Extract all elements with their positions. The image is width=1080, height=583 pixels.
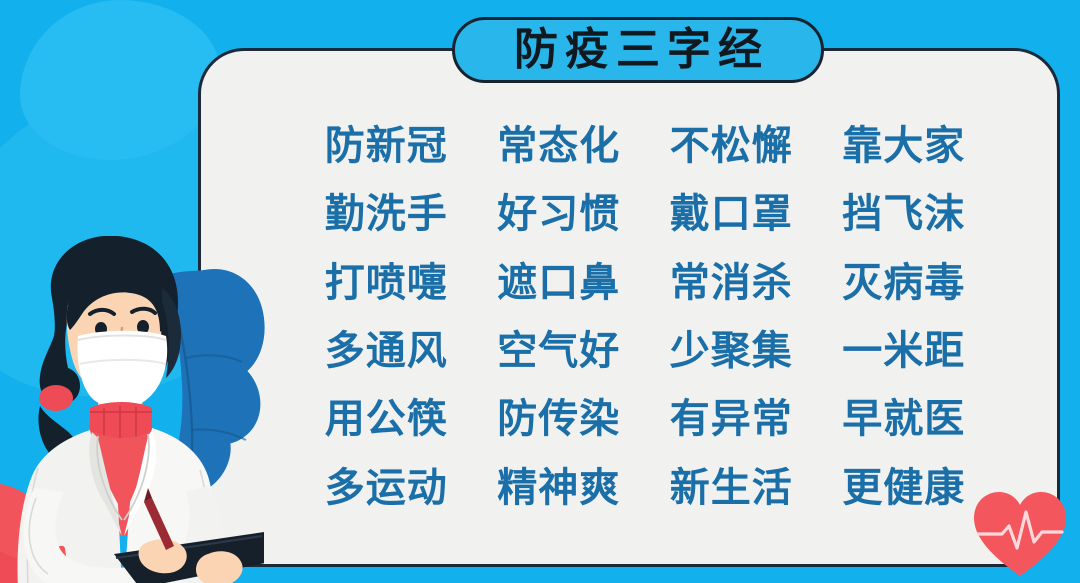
phrase-text: 勤洗手 bbox=[325, 194, 448, 234]
phrase-text: 好习惯 bbox=[497, 194, 620, 234]
phrase-cell: 精神爽 bbox=[473, 454, 646, 522]
phrase-cell: 常态化 bbox=[473, 112, 646, 180]
phrase-text: 靠大家 bbox=[842, 126, 965, 166]
phrase-cell: 少聚集 bbox=[645, 317, 818, 385]
phrase-text: 新生活 bbox=[670, 468, 793, 508]
phrase-text: 灭病毒 bbox=[842, 263, 965, 303]
phrase-cell: 靠大家 bbox=[818, 112, 991, 180]
phrase-text: 早就医 bbox=[842, 399, 965, 439]
phrase-cell: 多通风 bbox=[300, 317, 473, 385]
phrase-cell: 常消杀 bbox=[645, 249, 818, 317]
phrase-text: 多运动 bbox=[325, 468, 448, 508]
page-title: 防疫三字经 bbox=[507, 28, 769, 72]
face-mask bbox=[78, 331, 168, 409]
phrase-cell: 灭病毒 bbox=[818, 249, 991, 317]
phrase-cell: 好习惯 bbox=[473, 180, 646, 248]
phrase-grid: 防新冠 常态化 不松懈 靠大家 勤洗手 好习惯 戴口罩 挡飞沫 打喷嚏 遮口鼻 … bbox=[300, 112, 990, 522]
phrase-text: 空气好 bbox=[497, 331, 620, 371]
poster-root: 防疫三字经 防新冠 常态化 不松懈 靠大家 勤洗手 好习惯 戴口罩 挡飞沫 打喷… bbox=[0, 0, 1080, 583]
phrase-cell: 戴口罩 bbox=[645, 180, 818, 248]
phrase-text: 防新冠 bbox=[325, 126, 448, 166]
phrase-cell: 打喷嚏 bbox=[300, 249, 473, 317]
phrase-text: 常态化 bbox=[497, 126, 620, 166]
hair-tie bbox=[39, 385, 73, 411]
phrase-text: 有异常 bbox=[670, 399, 793, 439]
phrase-cell: 更健康 bbox=[818, 454, 991, 522]
phrase-text: 常消杀 bbox=[670, 263, 793, 303]
phrase-text: 遮口鼻 bbox=[497, 263, 620, 303]
phrase-cell: 空气好 bbox=[473, 317, 646, 385]
phrase-cell: 新生活 bbox=[645, 454, 818, 522]
phrase-text: 多通风 bbox=[325, 331, 448, 371]
phrase-text: 用公筷 bbox=[325, 399, 448, 439]
phrase-cell: 用公筷 bbox=[300, 385, 473, 453]
phrase-text: 少聚集 bbox=[670, 331, 793, 371]
phrase-text: 不松懈 bbox=[670, 126, 793, 166]
phrase-text: 更健康 bbox=[842, 468, 965, 508]
phrase-cell: 不松懈 bbox=[645, 112, 818, 180]
phrase-cell: 遮口鼻 bbox=[473, 249, 646, 317]
phrase-cell: 早就医 bbox=[818, 385, 991, 453]
phrase-cell: 多运动 bbox=[300, 454, 473, 522]
phrase-cell: 一米距 bbox=[818, 317, 991, 385]
phrase-text: 挡飞沫 bbox=[842, 194, 965, 234]
phrase-cell: 防新冠 bbox=[300, 112, 473, 180]
phrase-cell: 勤洗手 bbox=[300, 180, 473, 248]
phrase-text: 戴口罩 bbox=[670, 194, 793, 234]
phrase-text: 一米距 bbox=[842, 331, 965, 371]
phrase-text: 防传染 bbox=[497, 399, 620, 439]
doctor-illustration bbox=[0, 236, 264, 583]
phrase-text: 打喷嚏 bbox=[325, 263, 448, 303]
heart-pulse-icon bbox=[972, 490, 1068, 580]
phrase-cell: 挡飞沫 bbox=[818, 180, 991, 248]
phrase-cell: 防传染 bbox=[473, 385, 646, 453]
phrase-text: 精神爽 bbox=[497, 468, 620, 508]
title-pill: 防疫三字经 bbox=[452, 17, 824, 83]
turtleneck-collar bbox=[90, 402, 152, 438]
phrase-cell: 有异常 bbox=[645, 385, 818, 453]
